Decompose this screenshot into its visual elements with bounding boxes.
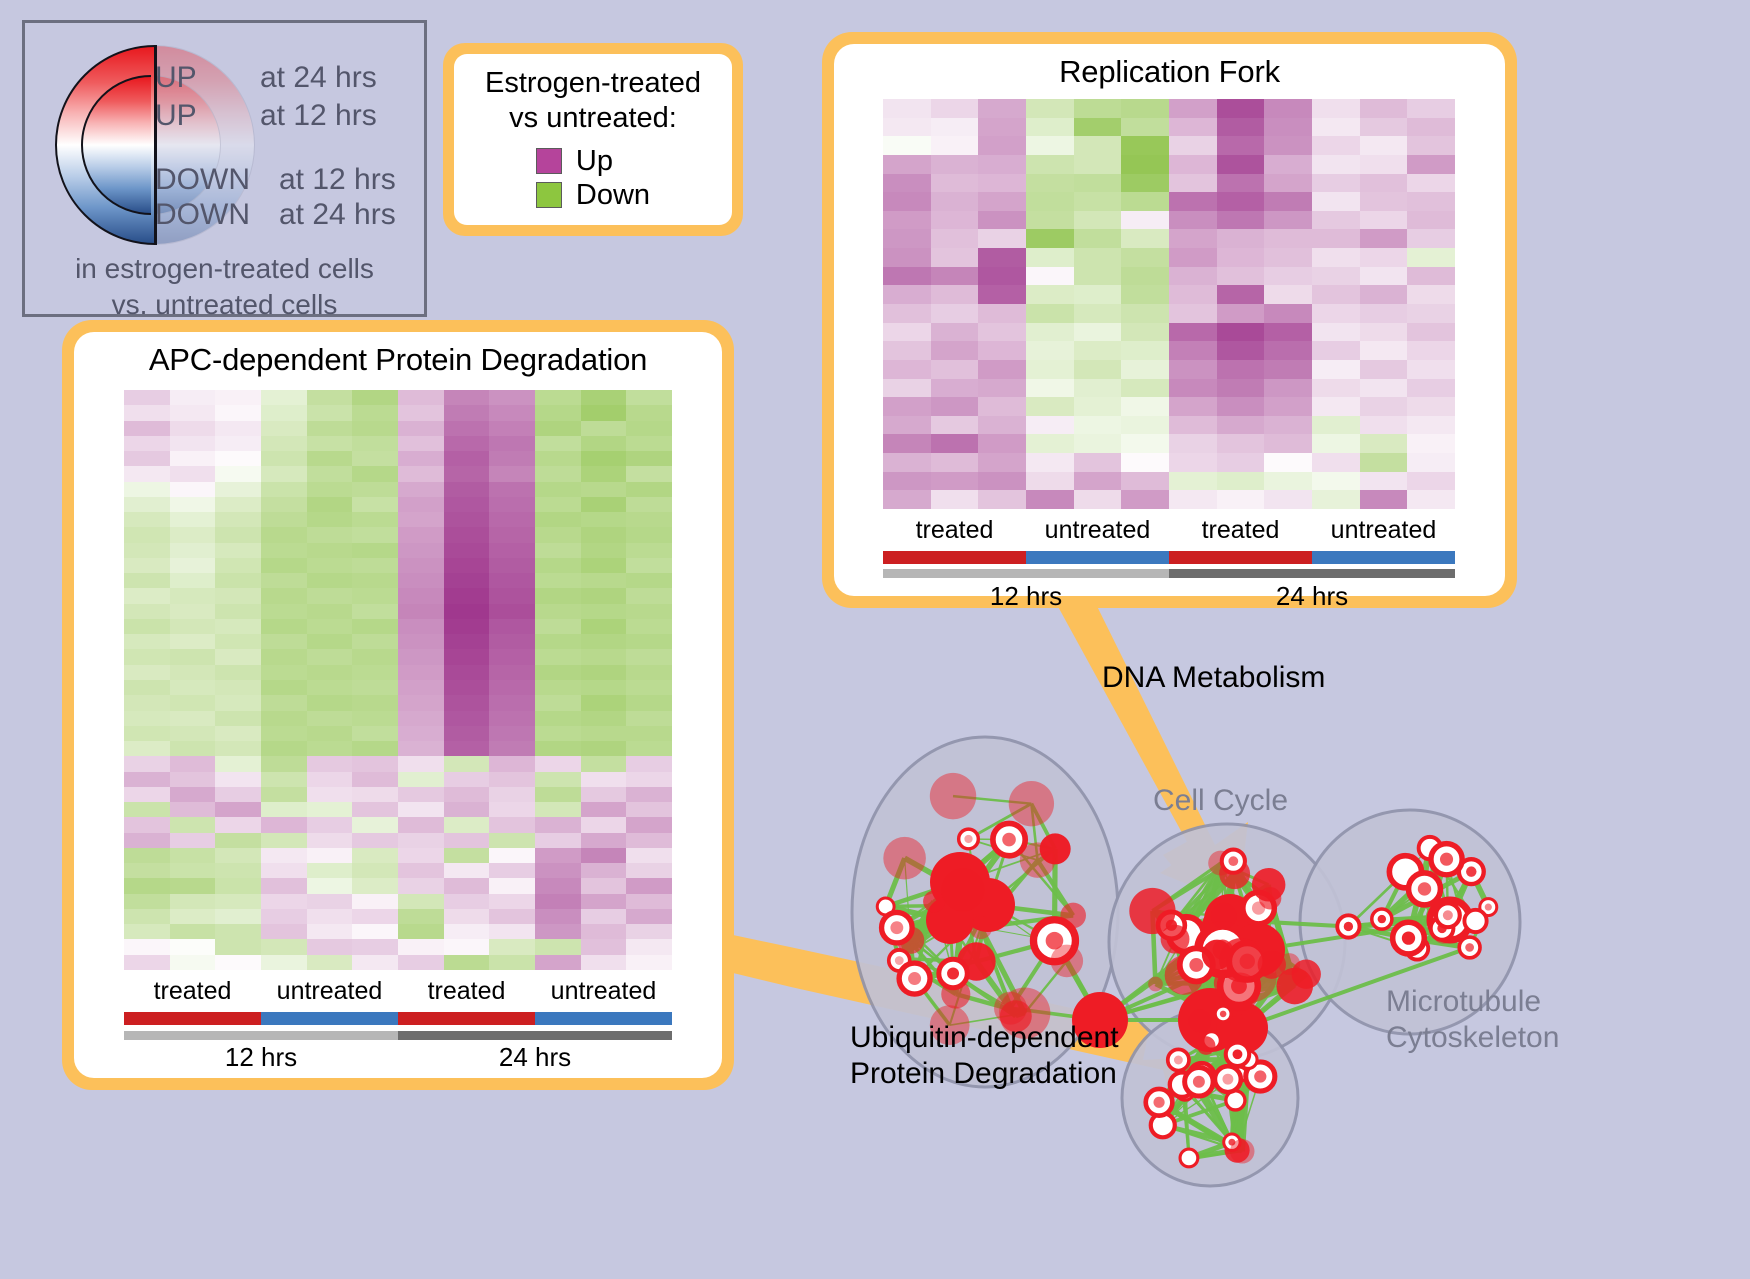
heatmap-cell <box>261 558 307 573</box>
heatmap-cell <box>307 482 353 497</box>
heatmap-cell <box>1360 323 1408 342</box>
heatmap-cell <box>170 909 216 924</box>
heatmap-cell <box>1264 99 1312 118</box>
heatmap-cell <box>489 772 535 787</box>
heatmap-cell <box>1121 304 1169 323</box>
heatmap-cell <box>489 894 535 909</box>
heatmap-cell <box>978 211 1026 230</box>
network-node-core <box>1222 1074 1233 1085</box>
heatmap-cell <box>124 619 170 634</box>
heatmap-cell <box>124 482 170 497</box>
heatmap-cell <box>1169 304 1217 323</box>
heatmap-cell <box>215 619 261 634</box>
heatmap-cell <box>489 527 535 542</box>
heatmap-cell <box>1217 416 1265 435</box>
network-node <box>1148 977 1163 992</box>
heatmap-cell <box>307 604 353 619</box>
heatmap-cell <box>261 726 307 741</box>
heatmap-cell <box>1360 211 1408 230</box>
heatmap-cell <box>307 436 353 451</box>
heatmap-cell <box>1217 136 1265 155</box>
heatmap-cell <box>352 772 398 787</box>
heatmap-cell <box>535 573 581 588</box>
heatmap-cell <box>215 802 261 817</box>
heatmap-cell <box>398 955 444 970</box>
time-color-segment <box>1169 569 1455 578</box>
heatmap-cell <box>398 756 444 771</box>
network-node-core <box>947 968 959 980</box>
heatmap-cell <box>931 211 979 230</box>
heatmap-cell <box>626 695 672 710</box>
heatmap-cell <box>261 665 307 680</box>
heatmap-cell <box>444 588 490 603</box>
heatmap-cell <box>215 497 261 512</box>
group-label: untreated <box>261 977 398 1009</box>
heatmap-cell <box>261 695 307 710</box>
heatmap-cell <box>1169 229 1217 248</box>
heatmap-cell <box>444 802 490 817</box>
heatmap-cell <box>398 604 444 619</box>
heatmap-cell <box>1074 472 1122 491</box>
heatmap-cell <box>978 285 1026 304</box>
heatmap-cell <box>489 817 535 832</box>
heatmap-cell <box>444 604 490 619</box>
apc-time-bar <box>124 1031 672 1040</box>
heatmap-cell <box>261 741 307 756</box>
heatmap-cell <box>170 802 216 817</box>
heatmap-cell <box>535 436 581 451</box>
heatmap-cell <box>535 680 581 695</box>
heatmap-cell <box>931 360 979 379</box>
heatmap-cell <box>1217 285 1265 304</box>
heatmap-cell <box>489 955 535 970</box>
heatmap-cell <box>215 741 261 756</box>
heatmap-cell <box>1360 453 1408 472</box>
heatmap-cell <box>124 527 170 542</box>
heatmap-cell <box>444 421 490 436</box>
heatmap-cell <box>1360 379 1408 398</box>
legend-footer: in estrogen-treated cells vs. untreated … <box>25 251 424 323</box>
heatmap-cell <box>444 573 490 588</box>
heatmap-cell <box>978 416 1026 435</box>
heatmap-cell <box>124 466 170 481</box>
heatmap-cell <box>261 878 307 893</box>
heatmap-cell <box>626 466 672 481</box>
network-node-core <box>1465 943 1474 952</box>
network-node-core <box>1378 915 1386 923</box>
updown-legend-title-line1: Estrogen-treated <box>454 66 732 101</box>
heatmap-cell <box>931 99 979 118</box>
heatmap-cell <box>307 863 353 878</box>
replication-fork-time-labels: 12 hrs24 hrs <box>883 581 1455 613</box>
heatmap-cell <box>1169 285 1217 304</box>
heatmap-cell <box>626 405 672 420</box>
heatmap-cell <box>307 711 353 726</box>
heatmap-cell <box>1217 323 1265 342</box>
network-node-core <box>890 921 903 934</box>
heatmap-cell <box>978 397 1026 416</box>
heatmap-cell <box>626 604 672 619</box>
heatmap-cell <box>1264 490 1312 509</box>
heatmap-cell <box>1217 304 1265 323</box>
heatmap-cell <box>883 490 931 509</box>
heatmap-cell <box>444 909 490 924</box>
heatmap-cell <box>626 482 672 497</box>
heatmap-cell <box>1264 453 1312 472</box>
heatmap-cell <box>489 924 535 939</box>
network-node-core <box>1440 853 1453 866</box>
heatmap-cell <box>626 436 672 451</box>
heatmap-cell <box>1360 155 1408 174</box>
heatmap-cell <box>581 573 627 588</box>
group-color-segment <box>398 1012 535 1025</box>
heatmap-cell <box>626 634 672 649</box>
heatmap-cell <box>535 405 581 420</box>
heatmap-cell <box>1360 490 1408 509</box>
cluster-label-microtubule: Microtubule Cytoskeleton <box>1386 984 1559 1056</box>
heatmap-cell <box>883 174 931 193</box>
heatmap-cell <box>1264 248 1312 267</box>
heatmap-cell <box>444 390 490 405</box>
heatmap-cell <box>883 360 931 379</box>
heatmap-cell <box>1074 229 1122 248</box>
heatmap-cell <box>1312 397 1360 416</box>
group-label: treated <box>1169 516 1312 548</box>
heatmap-cell <box>1217 397 1265 416</box>
heatmap-cell <box>1217 99 1265 118</box>
heatmap-cell <box>398 405 444 420</box>
heatmap-cell <box>883 267 931 286</box>
heatmap-cell <box>1217 229 1265 248</box>
heatmap-cell <box>261 939 307 954</box>
heatmap-cell <box>1264 341 1312 360</box>
heatmap-cell <box>489 512 535 527</box>
time-color-segment <box>398 1031 672 1040</box>
heatmap-cell <box>398 711 444 726</box>
heatmap-cell <box>215 711 261 726</box>
heatmap-cell <box>535 787 581 802</box>
heatmap-cell <box>124 787 170 802</box>
heatmap-cell <box>535 741 581 756</box>
network-node <box>1009 781 1054 826</box>
network-node-core <box>1418 882 1431 895</box>
heatmap-cell <box>1264 155 1312 174</box>
group-label: treated <box>398 977 535 1009</box>
heatmap-cell <box>1026 379 1074 398</box>
heatmap-cell <box>444 649 490 664</box>
heatmap-cell <box>581 558 627 573</box>
legend-row-down-24hrs: DOWNat 24 hrs <box>155 198 396 232</box>
heatmap-cell <box>1169 323 1217 342</box>
heatmap-cell <box>978 434 1026 453</box>
heatmap-cell <box>444 772 490 787</box>
heatmap-cell <box>170 817 216 832</box>
heatmap-cell <box>170 772 216 787</box>
heatmap-cell <box>626 833 672 848</box>
heatmap-cell <box>1121 99 1169 118</box>
heatmap-cell <box>489 405 535 420</box>
heatmap-cell <box>1026 416 1074 435</box>
heatmap-cell <box>1360 192 1408 211</box>
apc-time-labels: 12 hrs24 hrs <box>124 1042 672 1074</box>
heatmap-cell <box>1074 99 1122 118</box>
heatmap-cell <box>124 680 170 695</box>
network-node-core <box>1254 1070 1266 1082</box>
heatmap-cell <box>626 543 672 558</box>
heatmap-cell <box>1312 341 1360 360</box>
network-node <box>1252 868 1286 902</box>
heatmap-cell <box>1074 285 1122 304</box>
heatmap-cell <box>1407 472 1455 491</box>
heatmap-cell <box>535 802 581 817</box>
heatmap-cell <box>1074 323 1122 342</box>
heatmap-cell <box>124 543 170 558</box>
heatmap-cell <box>535 497 581 512</box>
heatmap-cell <box>261 802 307 817</box>
heatmap-cell <box>170 955 216 970</box>
heatmap-cell <box>1264 118 1312 137</box>
heatmap-cell <box>626 817 672 832</box>
heatmap-cell <box>1026 118 1074 137</box>
heatmap-cell <box>444 558 490 573</box>
heatmap-cell <box>444 634 490 649</box>
heatmap-cell <box>215 451 261 466</box>
heatmap-cell <box>1264 192 1312 211</box>
heatmap-cell <box>1264 211 1312 230</box>
heatmap-cell <box>215 955 261 970</box>
heatmap-cell <box>215 436 261 451</box>
updown-legend-title: Estrogen-treated vs untreated: <box>454 66 732 136</box>
heatmap-cell <box>170 741 216 756</box>
heatmap-cell <box>1169 360 1217 379</box>
heatmap-cell <box>1217 174 1265 193</box>
network-node <box>941 868 984 911</box>
heatmap-cell <box>1217 453 1265 472</box>
heatmap-cell <box>883 285 931 304</box>
heatmap-cell <box>931 267 979 286</box>
heatmap-cell <box>883 229 931 248</box>
heatmap-cell <box>489 863 535 878</box>
heatmap-cell <box>931 341 979 360</box>
heatmap-cell <box>489 588 535 603</box>
heatmap-cell <box>1026 360 1074 379</box>
network-node-core <box>1344 922 1353 931</box>
heatmap-cell <box>978 248 1026 267</box>
heatmap-cell <box>170 436 216 451</box>
heatmap-cell <box>1169 248 1217 267</box>
heatmap-cell <box>444 619 490 634</box>
network-node-core <box>1189 958 1203 972</box>
heatmap-cell <box>170 787 216 802</box>
heatmap-cell <box>215 634 261 649</box>
heatmap-cell <box>535 955 581 970</box>
heatmap-cell <box>215 482 261 497</box>
heatmap-cell <box>170 939 216 954</box>
heatmap-cell <box>535 894 581 909</box>
heatmap-cell <box>398 695 444 710</box>
heatmap-cell <box>170 604 216 619</box>
legend-key-down-12: DOWN <box>155 163 279 197</box>
heatmap-cell <box>170 894 216 909</box>
heatmap-cell <box>581 436 627 451</box>
apc-heatmap <box>124 390 672 970</box>
network-node <box>1051 945 1084 978</box>
heatmap-cell <box>931 323 979 342</box>
heatmap-cell <box>978 136 1026 155</box>
heatmap-cell <box>1217 192 1265 211</box>
heatmap-cell <box>124 711 170 726</box>
heatmap-cell <box>535 695 581 710</box>
heatmap-cell <box>535 451 581 466</box>
heatmap-cell <box>124 878 170 893</box>
heatmap-cell <box>489 833 535 848</box>
heatmap-cell <box>581 955 627 970</box>
heatmap-cell <box>352 924 398 939</box>
heatmap-cell <box>489 634 535 649</box>
heatmap-cell <box>581 405 627 420</box>
heatmap-cell <box>535 863 581 878</box>
heatmap-cell <box>398 466 444 481</box>
heatmap-cell <box>307 573 353 588</box>
heatmap-cell <box>398 772 444 787</box>
heatmap-cell <box>215 588 261 603</box>
heatmap-cell <box>535 588 581 603</box>
heatmap-cell <box>124 665 170 680</box>
heatmap-cell <box>398 939 444 954</box>
heatmap-cell <box>398 543 444 558</box>
heatmap-cell <box>626 711 672 726</box>
heatmap-cell <box>581 451 627 466</box>
heatmap-cell <box>398 894 444 909</box>
heatmap-cell <box>1264 174 1312 193</box>
network-node-core <box>1233 1049 1243 1059</box>
heatmap-cell <box>1121 155 1169 174</box>
heatmap-cell <box>398 527 444 542</box>
heatmap-cell <box>1121 174 1169 193</box>
heatmap-cell <box>1407 397 1455 416</box>
heatmap-cell <box>444 726 490 741</box>
heatmap-cell <box>444 939 490 954</box>
heatmap-cell <box>535 665 581 680</box>
heatmap-cell <box>883 118 931 137</box>
heatmap-cell <box>307 543 353 558</box>
heatmap-cell <box>489 390 535 405</box>
heatmap-cell <box>581 833 627 848</box>
replication-fork-heatmap <box>883 99 1455 509</box>
cluster-label-ubiquitin: Ubiquitin-dependent Protein Degradation <box>850 1020 1119 1092</box>
heatmap-cell <box>352 848 398 863</box>
heatmap-cell <box>489 619 535 634</box>
heatmap-cell <box>535 649 581 664</box>
heatmap-cell <box>124 848 170 863</box>
heatmap-cell <box>978 267 1026 286</box>
heatmap-cell <box>215 680 261 695</box>
heatmap-cell <box>535 543 581 558</box>
heatmap-cell <box>1360 174 1408 193</box>
heatmap-cell <box>581 466 627 481</box>
heatmap-cell <box>444 894 490 909</box>
heatmap-cell <box>398 482 444 497</box>
heatmap-cell <box>444 695 490 710</box>
heatmap-cell <box>1312 323 1360 342</box>
heatmap-cell <box>352 405 398 420</box>
heatmap-cell <box>261 573 307 588</box>
heatmap-cell <box>215 924 261 939</box>
heatmap-cell <box>626 588 672 603</box>
heatmap-cell <box>1074 304 1122 323</box>
heatmap-cell <box>398 634 444 649</box>
heatmap-cell <box>261 756 307 771</box>
heatmap-cell <box>626 649 672 664</box>
heatmap-cell <box>124 802 170 817</box>
heatmap-cell <box>124 909 170 924</box>
heatmap-cell <box>215 726 261 741</box>
legend-time-up-12: at 12 hrs <box>260 99 377 132</box>
heatmap-cell <box>1026 155 1074 174</box>
heatmap-cell <box>931 174 979 193</box>
heatmap-cell <box>931 118 979 137</box>
heatmap-cell <box>1312 99 1360 118</box>
heatmap-cell <box>170 390 216 405</box>
heatmap-cell <box>535 939 581 954</box>
group-label: untreated <box>535 977 672 1009</box>
group-color-segment <box>261 1012 398 1025</box>
heatmap-cell <box>978 118 1026 137</box>
heatmap-cell <box>1407 379 1455 398</box>
heatmap-cell <box>1264 360 1312 379</box>
heatmap-cell <box>1407 490 1455 509</box>
heatmap-cell <box>883 155 931 174</box>
heatmap-cell <box>261 512 307 527</box>
heatmap-cell <box>170 558 216 573</box>
heatmap-cell <box>1407 118 1455 137</box>
heatmap-cell <box>1360 285 1408 304</box>
heatmap-cell <box>626 863 672 878</box>
heatmap-cell <box>398 787 444 802</box>
heatmap-cell <box>170 680 216 695</box>
heatmap-cell <box>1026 174 1074 193</box>
heatmap-cell <box>931 416 979 435</box>
network-node-core <box>1153 1097 1164 1108</box>
heatmap-cell <box>978 304 1026 323</box>
heatmap-cell <box>1264 416 1312 435</box>
heatmap-cell <box>581 711 627 726</box>
heatmap-cell <box>978 192 1026 211</box>
heatmap-cell <box>581 649 627 664</box>
heatmap-cell <box>352 726 398 741</box>
legend-key-down: Down <box>536 179 650 212</box>
heatmap-cell <box>1407 267 1455 286</box>
group-label: untreated <box>1312 516 1455 548</box>
heatmap-cell <box>215 665 261 680</box>
network-node <box>1219 938 1263 982</box>
heatmap-cell <box>1407 453 1455 472</box>
heatmap-cell <box>352 390 398 405</box>
heatmap-cell <box>1121 360 1169 379</box>
heatmap-cell <box>215 421 261 436</box>
heatmap-cell <box>1217 360 1265 379</box>
heatmap-cell <box>883 416 931 435</box>
heatmap-cell <box>931 304 979 323</box>
heatmap-cell <box>215 512 261 527</box>
replication-fork-group-bar <box>883 551 1455 564</box>
heatmap-cell <box>1264 323 1312 342</box>
heatmap-cell <box>489 649 535 664</box>
legend-footer-line2: vs. untreated cells <box>25 287 424 323</box>
heatmap-cell <box>1026 248 1074 267</box>
heatmap-cell <box>581 695 627 710</box>
heatmap-cell <box>535 817 581 832</box>
